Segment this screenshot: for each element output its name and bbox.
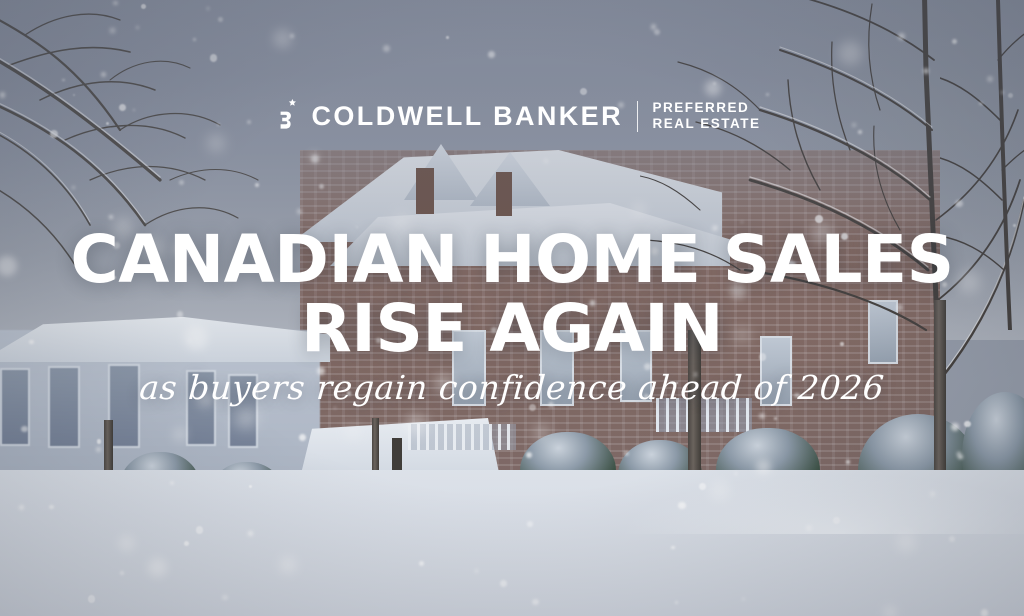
brand-logo-lockup: COLDWELL BANKER PREFERRED REAL ESTATE: [0, 98, 1024, 134]
subtitle: as buyers regain confidence ahead of 202…: [0, 368, 1024, 407]
brand-wordmark: COLDWELL BANKER: [312, 103, 623, 130]
headline-line-1: CANADIAN HOME SALES: [70, 221, 953, 298]
affiliate-line-2: REAL ESTATE: [652, 116, 760, 131]
promotional-graphic: COLDWELL BANKER PREFERRED REAL ESTATE CA…: [0, 0, 1024, 616]
affiliate-line-1: PREFERRED: [652, 100, 749, 115]
affiliate-name: PREFERRED REAL ESTATE: [652, 100, 760, 132]
headline-line-2: RISE AGAIN: [0, 295, 1024, 364]
logo-divider: [637, 101, 639, 132]
page-title: CANADIAN HOME SALES RISE AGAIN: [0, 226, 1024, 363]
coldwell-banker-cb-star-icon: [264, 98, 298, 134]
